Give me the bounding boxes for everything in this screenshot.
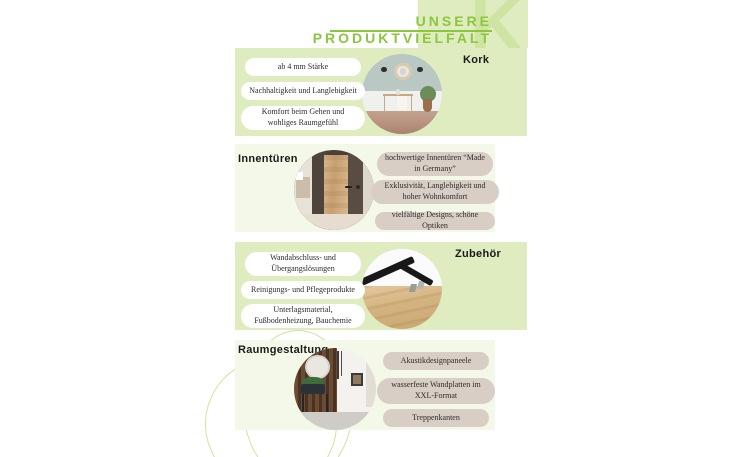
- feature-pill: Nachhaltigkeit und Langlebigkeit: [241, 82, 365, 100]
- feature-pill: ab 4 mm Stärke: [245, 58, 361, 76]
- feature-pill: vielfältige Designs, schöne Optiken: [375, 212, 495, 230]
- page-header: K UNSERE PRODUKTVIELFALT: [0, 0, 730, 48]
- feature-pill: Akustikdesignpaneele: [383, 352, 489, 370]
- feature-pill: hochwertige Innentüren “Made in Germany”: [377, 152, 493, 176]
- feature-pill: Komfort beim Gehen und wohliges Raumgefü…: [241, 106, 365, 130]
- section-label-zubehoer: Zubehör: [455, 248, 501, 260]
- innentuer-photo: [294, 150, 374, 230]
- feature-pill: Treppenkanten: [383, 409, 489, 427]
- product-overview-page: K UNSERE PRODUKTVIELFALT Kork ab 4 mm St…: [0, 0, 730, 457]
- header-line-one: UNSERE: [0, 13, 492, 29]
- feature-pill: Wandabschluss- und Übergangslösungen: [245, 252, 361, 276]
- section-label-kork: Kork: [463, 54, 489, 66]
- zubehoer-profil-photo: [362, 249, 442, 329]
- section-label-innentueren: Innentüren: [238, 153, 298, 165]
- feature-pill: Reinigungs- und Pflegeprodukte: [241, 281, 365, 299]
- raumgestaltung-photo: [294, 348, 376, 430]
- feature-pill: Exklusivität, Langlebigkeit und hoher Wo…: [371, 180, 499, 204]
- feature-pill: wasserfeste Wandplatten im XXL-Format: [377, 378, 495, 404]
- feature-pill: Unterlagsmaterial, Fußbodenheizung, Bauc…: [241, 304, 365, 328]
- page-title: PRODUKTVIELFALT: [0, 30, 492, 46]
- kork-room-photo: [362, 54, 442, 134]
